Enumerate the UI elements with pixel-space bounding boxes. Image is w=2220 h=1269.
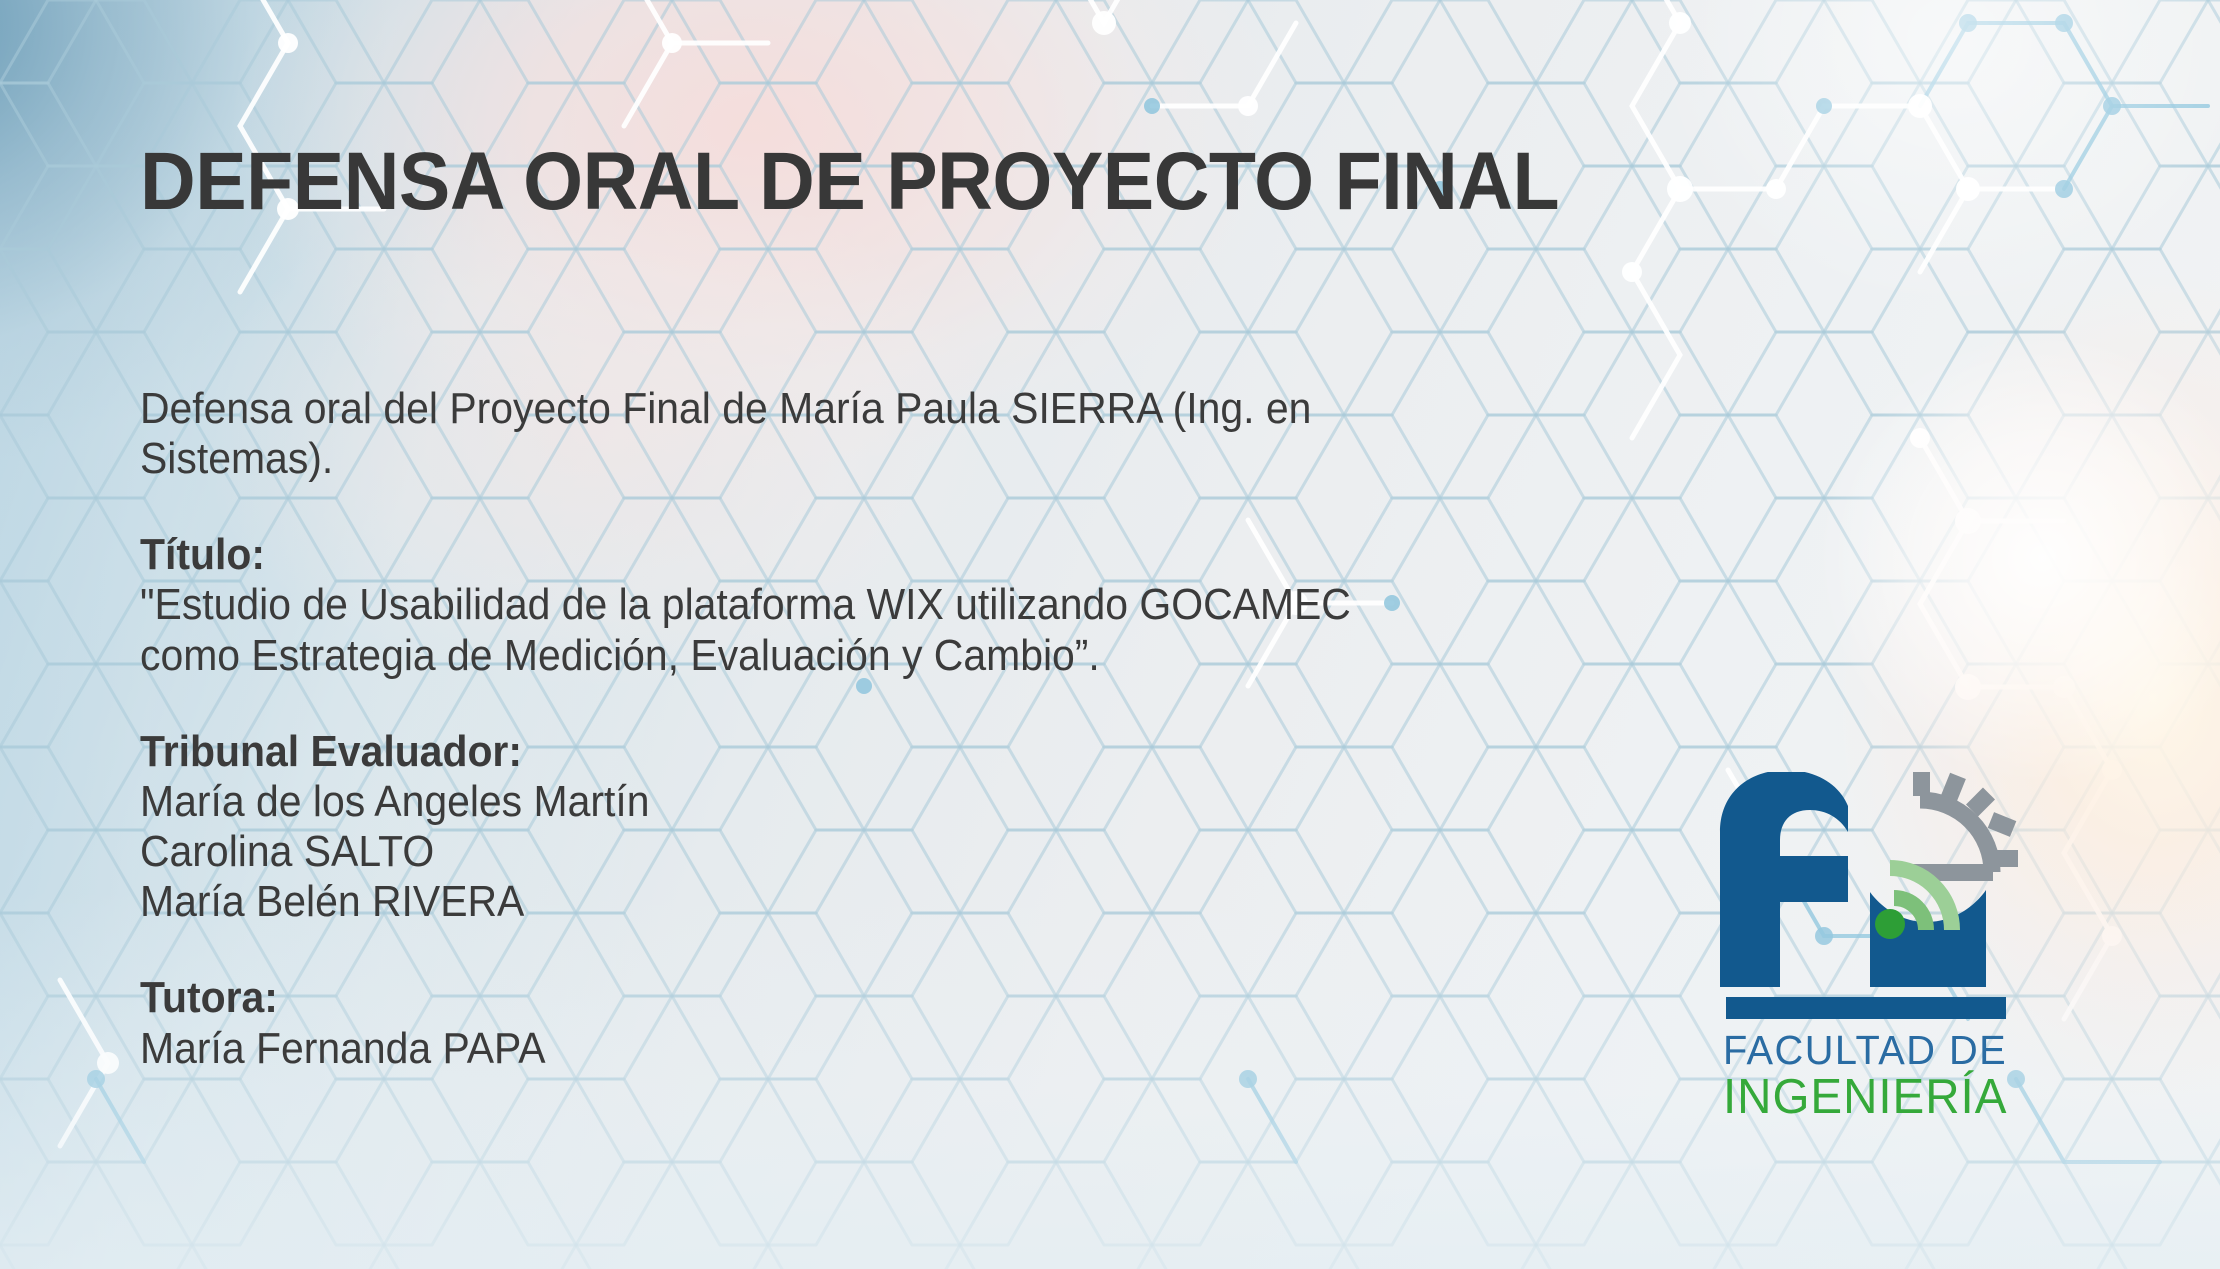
titulo-line-1: "Estudio de Usabilidad de la plataforma … (140, 580, 1535, 630)
tribunal-section: Tribunal Evaluador: María de los Angeles… (140, 727, 1535, 928)
tutora-label: Tutora: (140, 973, 1535, 1023)
tribunal-label: Tribunal Evaluador: (140, 727, 1535, 777)
intro-line-2: Sistemas). (140, 434, 1535, 484)
titulo-label: Título: (140, 530, 1535, 580)
titulo-line-2: como Estrategia de Medición, Evaluación … (140, 631, 1535, 681)
spacer-after-titulo (140, 681, 1535, 727)
tribunal-member-1: María de los Angeles Martín (140, 777, 1535, 827)
tribunal-member-3: María Belén RIVERA (140, 877, 1535, 927)
tribunal-member-2: Carolina SALTO (140, 827, 1535, 877)
page-title: DEFENSA ORAL DE PROYECTO FINAL (140, 141, 1559, 223)
spacer-after-intro (140, 484, 1535, 530)
fi-monogram-icon (1718, 772, 2018, 987)
presentation-slide: DEFENSA ORAL DE PROYECTO FINAL Defensa o… (0, 0, 2220, 1269)
titulo-section: Título: "Estudio de Usabilidad de la pla… (140, 530, 1535, 680)
spacer-after-tribunal (140, 927, 1535, 973)
tutora-name: María Fernanda PAPA (140, 1024, 1535, 1074)
intro-line-1: Defensa oral del Proyecto Final de María… (140, 384, 1535, 434)
logo-line-facultad-de: FACULTAD DE (1723, 1030, 2014, 1071)
logo-underline-bar (1726, 997, 2006, 1019)
tutora-section: Tutora: María Fernanda PAPA (140, 973, 1535, 1073)
facultad-de-ingenieria-logo: FACULTAD DE INGENIERÍA (1718, 772, 2018, 1117)
logo-wordmark: FACULTAD DE INGENIERÍA (1723, 1030, 2023, 1122)
slide-body: Defensa oral del Proyecto Final de María… (140, 384, 1535, 1074)
slide-content: DEFENSA ORAL DE PROYECTO FINAL Defensa o… (140, 0, 1620, 1269)
logo-line-ingenieria: INGENIERÍA (1723, 1073, 2014, 1122)
intro-paragraph: Defensa oral del Proyecto Final de María… (140, 384, 1535, 484)
